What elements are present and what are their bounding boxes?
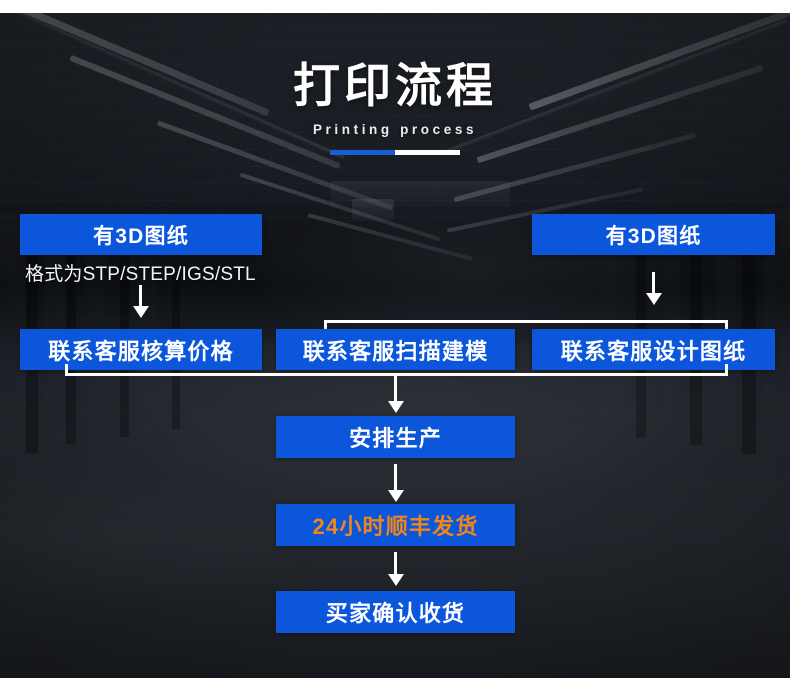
- format-note: 格式为STP/STEP/IGS/STL: [25, 259, 256, 286]
- flow-node-contact-design[interactable]: 联系客服设计图纸: [532, 329, 775, 370]
- arrow-head-to-shipping: [388, 490, 404, 502]
- flow-node-arrange-production[interactable]: 安排生产: [276, 416, 515, 458]
- flow-node-buyer-confirm[interactable]: 买家确认收货: [276, 591, 515, 633]
- flow-node-ship-24h[interactable]: 24小时顺丰发货: [276, 504, 515, 546]
- flow-node-label: 有3D图纸: [606, 220, 702, 250]
- flow-node-have-3d-left[interactable]: 有3D图纸: [20, 214, 262, 255]
- flow-node-label: 有3D图纸: [93, 220, 189, 250]
- arrow-head-right-entry: [646, 293, 662, 305]
- flow-node-have-3d-right[interactable]: 有3D图纸: [532, 214, 775, 255]
- arrow-head-to-confirm: [388, 574, 404, 586]
- flow-node-label: 安排生产: [349, 421, 442, 453]
- flow-node-label: 联系客服扫描建模: [303, 334, 489, 366]
- poster-stage: 打印流程 Printing process 有3D图纸 有3D图纸 格式为STP…: [0, 0, 790, 696]
- flow-node-contact-quote[interactable]: 联系客服核算价格: [20, 329, 262, 370]
- flow-node-label: 买家确认收货: [326, 596, 465, 628]
- printing-process-flowchart: 有3D图纸 有3D图纸 格式为STP/STEP/IGS/STL 联系客服核算价格…: [0, 0, 790, 696]
- arrow-head-to-production: [388, 401, 404, 413]
- flow-node-label: 24小时顺丰发货: [312, 509, 478, 541]
- arrow-head-left-entry: [133, 306, 149, 318]
- flow-node-contact-scan[interactable]: 联系客服扫描建模: [276, 329, 515, 370]
- flow-node-label: 联系客服设计图纸: [561, 334, 747, 366]
- bracket-top-horizontal: [324, 320, 728, 323]
- flow-node-label: 联系客服核算价格: [48, 334, 234, 366]
